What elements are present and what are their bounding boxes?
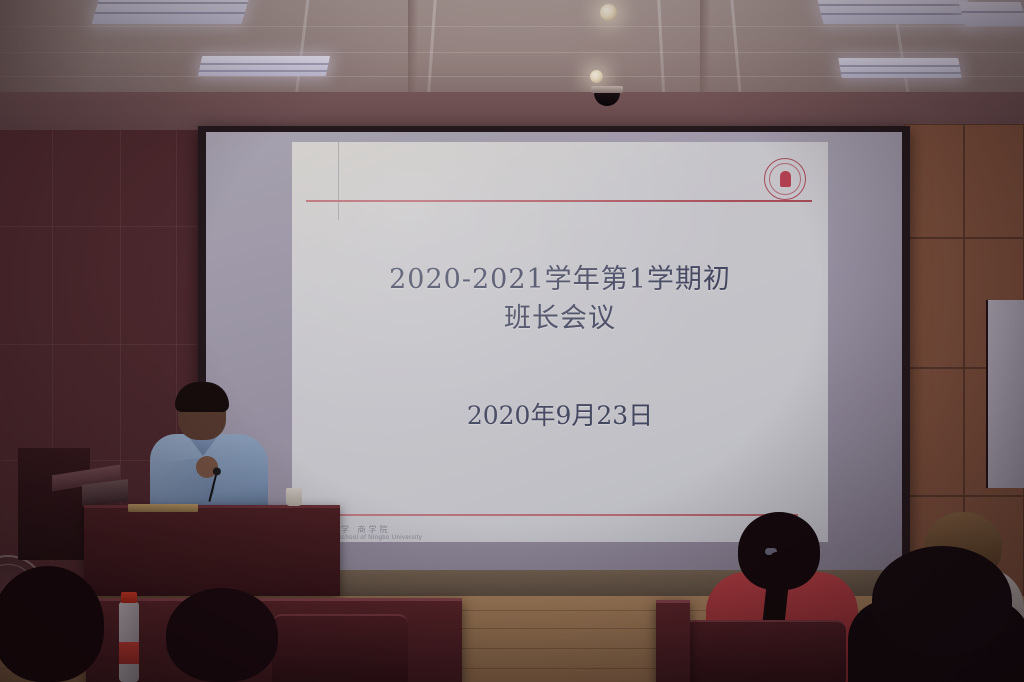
slide-rule-bottom [306,514,798,516]
lectern [18,448,90,560]
screen-glare [292,142,828,542]
bottle-cap [121,592,137,603]
ceiling-light-panel [838,58,962,78]
ceiling-light-panel [959,2,1024,26]
speaker-desk [84,505,340,596]
slide-title: 2020-2021学年第1学期初 班长会议 [292,260,828,338]
documents-on-desk [128,504,198,512]
audience-foreground-left [0,566,104,682]
audience-foreground-center [166,588,278,682]
university-crest-icon [764,158,806,200]
camera-mount [591,86,623,93]
speaker-hair [175,382,229,412]
audience-desk [656,600,690,682]
slide-title-line1: 2020-2021学年第1学期初 [292,260,828,299]
whiteboard-banner [986,300,1024,488]
slide-footer-cn: 宁波大学 商学院 [308,524,558,535]
ceiling-spotlight [590,70,603,83]
slide-date: 2020年9月23日 [292,396,828,432]
lecture-room-photo: 2020-2021学年第1学期初 班长会议 2020年9月23日 宁波大学 商学… [0,0,1024,682]
ceiling-light-panel [817,0,974,24]
ceiling-light-panel [198,56,330,76]
glasses-icon [181,410,223,420]
ceiling [0,0,1024,96]
slide-rule-top [306,200,812,202]
audience-head [872,546,1012,654]
bottle-label [119,642,139,664]
ceiling-spotlight [600,4,617,21]
ceiling-light-panel [92,0,251,24]
speaker-presenter [150,386,268,514]
presentation-slide: 2020-2021学年第1学期初 班长会议 2020年9月23日 宁波大学 商学… [292,142,828,542]
slide-footer: 宁波大学 商学院 Business School of Ningbo Unive… [308,524,558,540]
water-bottle [118,592,140,682]
paper-cup [286,488,302,506]
audience-chair [272,614,408,682]
slide-footer-en: Business School of Ningbo University [308,535,558,541]
slide-title-line2: 班长会议 [292,299,828,338]
audience-chair [684,620,846,682]
slide-guide-line [338,142,339,220]
